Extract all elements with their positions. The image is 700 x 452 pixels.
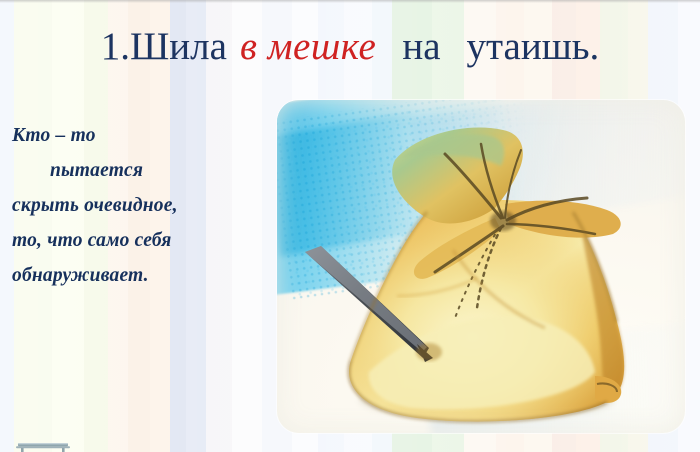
explanation-line-3: скрыть очевидное,: [12, 188, 264, 223]
title-tail-word-b: утаишь.: [467, 25, 600, 68]
title-lead-word: Шила: [130, 25, 227, 68]
title-number: 1.: [101, 25, 130, 68]
explanation-line-2: пытается: [12, 153, 264, 188]
explanation-line-5: обнаруживает.: [12, 258, 264, 293]
slide-top-rule: [0, 0, 700, 3]
explanation-line-1: Кто – то: [12, 118, 264, 153]
title-tail-word-a: на: [402, 25, 440, 68]
title-highlight-phrase: в мешке: [240, 25, 376, 68]
slide-canvas: 1.Шилав мешкенаутаишь. Кто – то пытается…: [0, 0, 700, 452]
explanation-text-block: Кто – то пытается скрыть очевидное, то, …: [12, 118, 264, 293]
slide-title: 1.Шилав мешкенаутаишь.: [0, 22, 700, 72]
explanation-line-4: то, что само себя: [12, 223, 264, 258]
illustration-panel: [277, 100, 685, 433]
bottom-edge-bar: [16, 441, 70, 452]
sack-illustration-drawing: [277, 100, 685, 433]
